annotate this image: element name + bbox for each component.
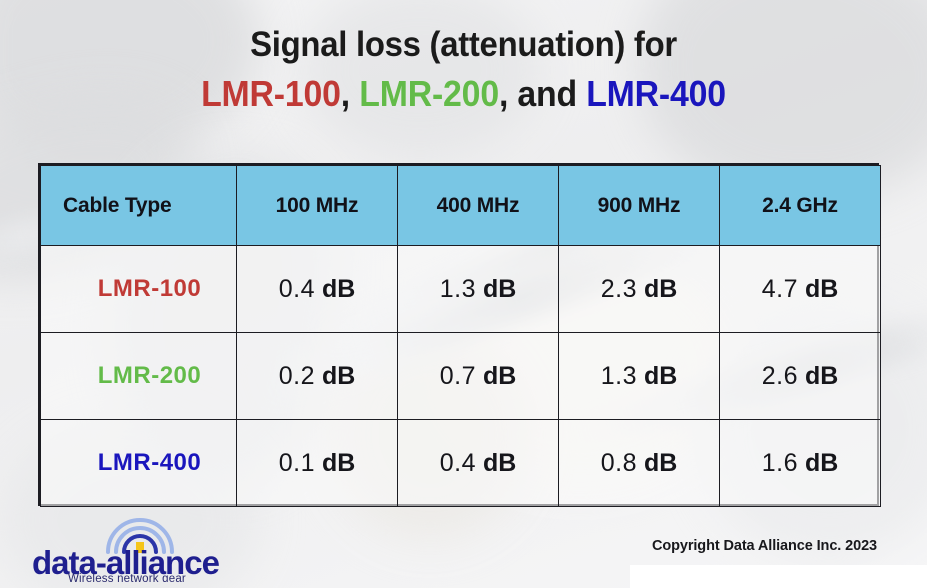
cell-lmr200-24ghz: 2.6 dB bbox=[720, 333, 881, 420]
cell-unit: dB bbox=[483, 275, 516, 303]
title-lmr100: LMR-100 bbox=[201, 73, 341, 114]
column-header-24ghz: 2.4 GHz bbox=[720, 166, 881, 246]
attenuation-table: Cable Type 100 MHz 400 MHz 900 MHz 2.4 G… bbox=[40, 165, 881, 507]
cell-value: 0.4 bbox=[440, 449, 476, 477]
cell-unit: dB bbox=[805, 275, 838, 303]
cell-lmr400-900mhz: 0.8 dB bbox=[559, 420, 720, 507]
column-header-400mhz: 400 MHz bbox=[398, 166, 559, 246]
cell-lmr100-900mhz: 2.3 dB bbox=[559, 246, 720, 333]
cell-lmr200-400mhz: 0.7 dB bbox=[398, 333, 559, 420]
cell-value: 2.3 bbox=[601, 275, 637, 303]
copyright-notice: Copyright Data Alliance Inc. 2023 bbox=[652, 538, 877, 554]
title-lmr200: LMR-200 bbox=[359, 73, 499, 114]
attenuation-table-container: Cable Type 100 MHz 400 MHz 900 MHz 2.4 G… bbox=[38, 163, 879, 506]
brand-logo[interactable]: data-alliance Wireless network gear bbox=[28, 512, 253, 582]
logo-tagline-text: Wireless network gear bbox=[68, 573, 186, 582]
cell-unit: dB bbox=[483, 449, 516, 477]
cell-value: 1.6 bbox=[762, 449, 798, 477]
cell-unit: dB bbox=[644, 275, 677, 303]
cell-lmr200-900mhz: 1.3 dB bbox=[559, 333, 720, 420]
cell-lmr100-400mhz: 1.3 dB bbox=[398, 246, 559, 333]
cell-lmr400-400mhz: 0.4 dB bbox=[398, 420, 559, 507]
cell-unit: dB bbox=[805, 362, 838, 390]
cell-unit: dB bbox=[644, 362, 677, 390]
cell-value: 0.7 bbox=[440, 362, 476, 390]
cell-lmr100-100mhz: 0.4 dB bbox=[237, 246, 398, 333]
cell-lmr100-24ghz: 4.7 dB bbox=[720, 246, 881, 333]
cell-value: 0.2 bbox=[279, 362, 315, 390]
column-header-100mhz: 100 MHz bbox=[237, 166, 398, 246]
row-label-lmr400: LMR-400 bbox=[41, 420, 237, 507]
corner-patch bbox=[630, 565, 927, 588]
cell-value: 1.3 bbox=[601, 362, 637, 390]
cell-value: 1.3 bbox=[440, 275, 476, 303]
row-label-lmr200: LMR-200 bbox=[41, 333, 237, 420]
title-lmr400: LMR-400 bbox=[586, 73, 726, 114]
title-sep-2: , and bbox=[499, 73, 586, 114]
cell-lmr200-100mhz: 0.2 dB bbox=[237, 333, 398, 420]
cell-lmr400-100mhz: 0.1 dB bbox=[237, 420, 398, 507]
infographic-canvas: Signal loss (attenuation) for LMR-100, L… bbox=[0, 0, 927, 588]
title-sep-1: , bbox=[341, 73, 359, 114]
wireless-signal-icon: data-alliance Wireless network gear bbox=[28, 512, 253, 582]
cell-lmr400-24ghz: 1.6 dB bbox=[720, 420, 881, 507]
cell-value: 2.6 bbox=[762, 362, 798, 390]
table-row: LMR-100 0.4 dB 1.3 dB 2.3 dB 4.7 dB bbox=[41, 246, 881, 333]
cell-unit: dB bbox=[483, 362, 516, 390]
column-header-900mhz: 900 MHz bbox=[559, 166, 720, 246]
table-row: LMR-400 0.1 dB 0.4 dB 0.8 dB 1.6 dB bbox=[41, 420, 881, 507]
table-header: Cable Type 100 MHz 400 MHz 900 MHz 2.4 G… bbox=[41, 166, 881, 246]
table-header-row: Cable Type 100 MHz 400 MHz 900 MHz 2.4 G… bbox=[41, 166, 881, 246]
row-label-lmr100: LMR-100 bbox=[41, 246, 237, 333]
cell-unit: dB bbox=[322, 362, 355, 390]
cell-unit: dB bbox=[805, 449, 838, 477]
column-header-cable-type: Cable Type bbox=[41, 166, 237, 246]
page-title: Signal loss (attenuation) for LMR-100, L… bbox=[0, 22, 927, 120]
table-body: LMR-100 0.4 dB 1.3 dB 2.3 dB 4.7 dB LMR-… bbox=[41, 246, 881, 507]
cell-unit: dB bbox=[322, 275, 355, 303]
title-line-1: Signal loss (attenuation) for bbox=[28, 22, 899, 68]
cell-value: 0.1 bbox=[279, 449, 315, 477]
cell-unit: dB bbox=[644, 449, 677, 477]
cell-value: 0.4 bbox=[279, 275, 315, 303]
title-line-2: LMR-100, LMR-200, and LMR-400 bbox=[28, 68, 899, 120]
cell-value: 0.8 bbox=[601, 449, 637, 477]
table-row: LMR-200 0.2 dB 0.7 dB 1.3 dB 2.6 dB bbox=[41, 333, 881, 420]
cell-unit: dB bbox=[322, 449, 355, 477]
cell-value: 4.7 bbox=[762, 275, 798, 303]
